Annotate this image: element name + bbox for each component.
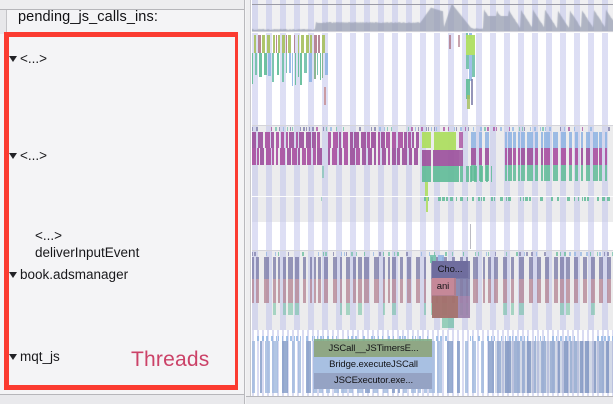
flame-segment[interactable] — [560, 252, 561, 256]
flame-segment[interactable] — [602, 197, 605, 201]
flame-segment[interactable] — [283, 257, 286, 279]
flame-segment[interactable] — [252, 279, 254, 303]
flame-segment[interactable] — [494, 197, 495, 201]
flame-segment[interactable] — [525, 197, 528, 201]
flame-segment[interactable] — [529, 257, 533, 279]
flame-segment[interactable] — [303, 279, 306, 303]
flame-segment[interactable] — [478, 197, 480, 201]
flame-segment[interactable] — [500, 197, 503, 201]
flame-segment[interactable] — [362, 148, 366, 165]
flame-segment[interactable] — [519, 279, 524, 303]
flame-segment[interactable] — [456, 127, 457, 131]
flame-segment[interactable] — [495, 252, 496, 256]
flame-segment[interactable] — [418, 127, 419, 131]
animation-block[interactable]: ani — [432, 278, 454, 295]
flame-segment[interactable] — [523, 197, 524, 201]
flame-segment[interactable] — [287, 148, 291, 165]
flame-segment[interactable] — [597, 252, 598, 256]
flame-segment[interactable] — [272, 53, 274, 82]
flame-segment[interactable] — [333, 257, 337, 279]
flame-segment[interactable] — [257, 148, 259, 165]
flame-segment[interactable] — [400, 257, 403, 279]
flame-segment[interactable] — [593, 148, 598, 165]
flame-segment[interactable] — [574, 257, 578, 279]
flame-segment[interactable] — [475, 252, 476, 256]
flame-segment[interactable] — [586, 148, 590, 165]
flame-segment[interactable] — [288, 279, 293, 303]
flame-segment[interactable] — [339, 132, 341, 148]
flame-segment[interactable] — [524, 127, 525, 131]
flame-segment[interactable] — [258, 132, 263, 148]
flame-segment[interactable] — [322, 53, 323, 78]
flame-segment[interactable] — [382, 148, 386, 165]
disclosure-triangle-icon[interactable] — [9, 272, 17, 278]
flame-segment[interactable] — [472, 197, 474, 201]
flame-segment[interactable] — [460, 166, 463, 182]
flame-segment[interactable] — [344, 252, 345, 256]
flame-segment[interactable] — [328, 132, 331, 148]
flame-segment[interactable] — [496, 127, 497, 131]
flame-segment[interactable] — [508, 132, 512, 148]
flame-segment[interactable] — [252, 341, 255, 393]
flame-segment[interactable] — [553, 148, 558, 165]
flame-segment[interactable] — [336, 127, 337, 131]
flame-segment[interactable] — [473, 279, 478, 303]
flame-segment[interactable] — [318, 257, 321, 279]
flame-segment[interactable] — [252, 132, 256, 148]
flame-segment[interactable] — [520, 197, 521, 201]
flame-segment[interactable] — [303, 257, 306, 279]
flame-segment[interactable] — [272, 148, 274, 165]
flame-segment[interactable] — [574, 252, 576, 256]
flame-segment[interactable] — [323, 127, 324, 131]
flame-segment[interactable] — [590, 252, 591, 256]
flame-segment[interactable] — [599, 279, 603, 303]
flame-segment[interactable] — [485, 148, 489, 165]
flame-segment[interactable] — [534, 127, 536, 131]
flame-segment[interactable] — [459, 132, 463, 148]
flame-segment[interactable] — [383, 252, 384, 256]
flame-segment[interactable] — [471, 148, 476, 165]
flame-segment[interactable] — [433, 166, 459, 182]
flame-segment[interactable] — [446, 197, 448, 201]
flame-segment[interactable] — [511, 257, 514, 279]
flame-segment[interactable] — [383, 257, 385, 279]
flame-segment[interactable] — [486, 252, 487, 256]
flame-segment[interactable] — [272, 341, 278, 393]
flame-segment[interactable] — [580, 252, 582, 256]
flame-segment[interactable] — [575, 165, 578, 181]
flame-segment[interactable] — [470, 166, 472, 182]
flame-segment[interactable] — [298, 148, 300, 165]
flame-segment[interactable] — [359, 127, 361, 131]
flame-segment[interactable] — [397, 252, 399, 256]
flame-segment[interactable] — [505, 132, 507, 148]
flame-segment[interactable] — [438, 197, 441, 201]
flame-segment[interactable] — [289, 53, 291, 73]
flame-segment[interactable] — [518, 165, 520, 181]
flame-segment[interactable] — [575, 148, 578, 165]
flame-segment[interactable] — [524, 252, 525, 256]
flame-segment[interactable] — [295, 279, 299, 303]
flame-segment[interactable] — [379, 252, 381, 256]
flame-segment[interactable] — [460, 127, 462, 131]
flame-segment[interactable] — [521, 132, 525, 148]
flame-segment[interactable] — [519, 303, 524, 315]
flame-segment[interactable] — [569, 165, 572, 181]
flame-segment[interactable] — [503, 279, 507, 303]
flame-segment[interactable] — [508, 148, 512, 165]
flame-segment[interactable] — [481, 341, 484, 393]
flame-segment[interactable] — [312, 127, 314, 131]
flame-segment[interactable] — [296, 132, 298, 148]
flame-segment[interactable] — [314, 257, 316, 279]
flame-segment[interactable] — [259, 53, 262, 77]
flame-segment[interactable] — [388, 279, 390, 303]
flame-segment[interactable] — [280, 148, 285, 165]
flame-segment[interactable] — [426, 197, 428, 212]
flame-segment[interactable] — [409, 148, 412, 165]
flame-segment[interactable] — [540, 127, 541, 131]
flame-segment[interactable] — [368, 148, 372, 165]
flame-segment[interactable] — [519, 252, 521, 256]
flame-segment[interactable] — [374, 257, 379, 279]
flame-segment[interactable] — [416, 279, 420, 303]
flame-segment[interactable] — [262, 336, 264, 341]
flame-segment[interactable] — [545, 257, 549, 279]
track-thread-1[interactable] — [252, 33, 613, 125]
flame-segment[interactable] — [473, 127, 474, 131]
flame-segment[interactable] — [535, 148, 538, 165]
flame-segment[interactable] — [282, 341, 288, 393]
flame-segment[interactable] — [428, 127, 429, 131]
flame-segment[interactable] — [306, 132, 311, 148]
flame-segment[interactable] — [379, 127, 381, 131]
flame-segment[interactable] — [458, 35, 460, 47]
flame-segment[interactable] — [491, 197, 493, 201]
track-thread-4[interactable] — [252, 222, 613, 250]
flame-segment[interactable] — [371, 127, 372, 131]
flame-segment[interactable] — [478, 252, 479, 256]
flame-segment[interactable] — [518, 132, 520, 148]
flame-segment[interactable] — [322, 166, 324, 178]
flame-segment[interactable] — [283, 303, 286, 315]
flame-segment[interactable] — [471, 132, 476, 148]
flame-segment[interactable] — [422, 132, 431, 148]
flame-segment[interactable] — [569, 148, 572, 165]
flame-segment[interactable] — [465, 127, 466, 131]
flame-segment[interactable] — [318, 279, 321, 303]
flame-segment[interactable] — [350, 148, 355, 165]
flame-segment[interactable] — [306, 35, 309, 53]
flame-segment[interactable] — [282, 35, 285, 53]
disclosure-triangle-icon[interactable] — [9, 56, 17, 62]
flame-segment[interactable] — [294, 35, 295, 53]
flame-segment[interactable] — [364, 279, 369, 303]
thread-tree[interactable]: <...><...><...>deliverInputEventbook.ads… — [9, 37, 235, 385]
flame-segment[interactable] — [544, 165, 550, 181]
flame-segment[interactable] — [488, 252, 489, 256]
flame-segment[interactable] — [421, 252, 422, 256]
flame-segment[interactable] — [434, 127, 435, 131]
flame-segment[interactable] — [340, 279, 342, 303]
flame-segment[interactable] — [273, 279, 276, 303]
flame-segment[interactable] — [574, 279, 578, 303]
flame-segment[interactable] — [381, 132, 385, 148]
flame-segment[interactable] — [560, 127, 561, 131]
flame-segment[interactable] — [264, 257, 269, 279]
flame-segment[interactable] — [277, 53, 279, 75]
flame-segment[interactable] — [306, 127, 307, 131]
flame-segment[interactable] — [374, 279, 379, 303]
flame-segment[interactable] — [511, 303, 514, 315]
flame-segment[interactable] — [286, 132, 288, 148]
flame-segment[interactable] — [516, 252, 518, 256]
flame-segment[interactable] — [459, 150, 463, 166]
flame-segment[interactable] — [431, 127, 432, 131]
flame-segment[interactable] — [484, 127, 486, 131]
flame-segment[interactable] — [271, 127, 272, 131]
flame-segment[interactable] — [513, 165, 516, 181]
flame-segment[interactable] — [292, 148, 297, 165]
flame-segment[interactable] — [266, 252, 267, 256]
flame-segment[interactable] — [265, 132, 270, 148]
flame-segment[interactable] — [317, 132, 320, 148]
flame-segment[interactable] — [553, 132, 558, 148]
flame-segment[interactable] — [288, 35, 291, 53]
flame-segment[interactable] — [505, 165, 507, 181]
flame-segment[interactable] — [339, 148, 342, 165]
flame-segment[interactable] — [508, 197, 511, 201]
flame-segment[interactable] — [407, 257, 411, 279]
flame-segment[interactable] — [279, 127, 280, 131]
flame-segment[interactable] — [599, 257, 603, 279]
flame-segment[interactable] — [549, 127, 551, 131]
flame-segment[interactable] — [493, 127, 495, 131]
flame-segment[interactable] — [512, 127, 514, 131]
flame-segment[interactable] — [367, 132, 370, 148]
flame-segment[interactable] — [428, 197, 429, 201]
flame-segment[interactable] — [271, 132, 274, 148]
flame-segment[interactable] — [442, 197, 445, 201]
flame-segment[interactable] — [273, 257, 276, 279]
flame-segment[interactable] — [252, 252, 253, 256]
tree-item[interactable]: mqt_js — [9, 348, 60, 365]
flame-segment[interactable] — [314, 53, 316, 79]
flame-segment[interactable] — [378, 132, 380, 148]
flame-segment[interactable] — [478, 336, 480, 341]
flame-segment[interactable] — [442, 318, 454, 328]
flame-segment[interactable] — [583, 279, 587, 303]
flame-segment[interactable] — [426, 127, 427, 131]
flame-segment[interactable] — [378, 148, 380, 165]
flame-segment[interactable] — [320, 53, 321, 80]
flame-segment[interactable] — [575, 132, 578, 148]
flame-segment[interactable] — [275, 252, 276, 256]
flame-segment[interactable] — [468, 127, 469, 131]
flame-segment[interactable] — [278, 336, 279, 341]
flame-segment[interactable] — [495, 341, 613, 393]
flame-segment[interactable] — [371, 132, 376, 148]
flame-segment[interactable] — [276, 148, 278, 165]
flame-segment[interactable] — [424, 303, 426, 315]
flame-segment[interactable] — [346, 257, 350, 279]
horizontal-scrollbar-left[interactable] — [0, 394, 245, 404]
flame-segment[interactable] — [404, 132, 407, 148]
flame-segment[interactable] — [383, 279, 385, 303]
flame-segment[interactable] — [545, 279, 549, 303]
flame-segment[interactable] — [607, 257, 611, 279]
flame-segment[interactable] — [433, 150, 459, 166]
flame-segment[interactable] — [254, 35, 256, 53]
flame-chart-body[interactable]: Cho...aniJSCall__JSTimersE...Bridge.exec… — [252, 0, 613, 404]
flame-segment[interactable] — [488, 257, 491, 279]
flame-segment[interactable] — [448, 127, 449, 131]
flame-segment[interactable] — [298, 341, 301, 393]
flame-segment[interactable] — [519, 127, 520, 131]
flame-segment[interactable] — [314, 35, 317, 53]
flame-segment[interactable] — [605, 165, 607, 181]
flame-segment[interactable] — [256, 257, 259, 279]
flame-segment[interactable] — [346, 252, 347, 256]
flame-segment[interactable] — [449, 35, 451, 49]
flame-segment[interactable] — [340, 303, 342, 315]
flame-segment[interactable] — [281, 132, 284, 148]
flame-segment[interactable] — [458, 296, 470, 318]
flame-segment[interactable] — [324, 87, 326, 105]
flame-segment[interactable] — [593, 165, 598, 181]
flame-segment[interactable] — [406, 252, 408, 256]
flame-segment[interactable] — [454, 127, 455, 131]
jscexecutor-block[interactable]: JSCExecutor.exe... — [318, 373, 429, 389]
flame-segment[interactable] — [487, 127, 489, 131]
flame-segment[interactable] — [302, 252, 304, 256]
flame-segment[interactable] — [591, 303, 595, 315]
flame-segment[interactable] — [353, 257, 356, 279]
flame-segment[interactable] — [295, 53, 296, 85]
flame-segment[interactable] — [574, 197, 575, 201]
flame-segment[interactable] — [324, 257, 328, 279]
flame-segment[interactable] — [466, 35, 475, 55]
flame-segment[interactable] — [599, 252, 601, 256]
horizontal-scrollbar-chart[interactable] — [246, 396, 613, 404]
flame-segment[interactable] — [400, 279, 403, 303]
flame-segment[interactable] — [479, 132, 482, 148]
flame-segment[interactable] — [282, 53, 284, 82]
flame-segment[interactable] — [529, 279, 533, 303]
flame-segment[interactable] — [586, 165, 590, 181]
flame-segment[interactable] — [479, 148, 482, 165]
flame-segment[interactable] — [392, 132, 396, 148]
flame-segment[interactable] — [450, 197, 453, 201]
flame-segment[interactable] — [530, 127, 531, 131]
flame-segment[interactable] — [266, 148, 271, 165]
flame-segment[interactable] — [264, 53, 267, 75]
flame-segment[interactable] — [463, 252, 464, 256]
flame-segment[interactable] — [452, 252, 453, 256]
flame-segment[interactable] — [494, 257, 498, 279]
flame-segment[interactable] — [306, 341, 311, 393]
flame-segment[interactable] — [333, 132, 338, 148]
flame-segment[interactable] — [310, 35, 312, 53]
flame-segment[interactable] — [599, 148, 602, 165]
flame-segment[interactable] — [262, 35, 265, 53]
flame-segment[interactable] — [307, 148, 311, 165]
jscall-timers-block[interactable]: JSCall__JSTimersE... — [318, 341, 429, 357]
flame-segment[interactable] — [411, 127, 413, 131]
flame-segment[interactable] — [333, 279, 337, 303]
flame-segment[interactable] — [467, 197, 468, 201]
flame-segment[interactable] — [273, 35, 275, 53]
flame-segment[interactable] — [593, 132, 598, 148]
flame-segment[interactable] — [325, 53, 328, 75]
flame-segment[interactable] — [324, 279, 328, 303]
flame-segment[interactable] — [424, 257, 426, 279]
flame-segment[interactable] — [554, 279, 558, 303]
flame-segment[interactable] — [260, 341, 262, 393]
tree-item[interactable]: deliverInputEvent — [23, 244, 139, 261]
flame-segment[interactable] — [566, 279, 570, 303]
flame-segment[interactable] — [384, 127, 385, 131]
flame-segment[interactable] — [503, 303, 507, 315]
flame-segment[interactable] — [506, 252, 507, 256]
flame-segment[interactable] — [300, 53, 302, 85]
flame-segment[interactable] — [412, 132, 414, 148]
track-thread-6[interactable] — [252, 330, 613, 396]
flame-segment[interactable] — [527, 132, 533, 148]
flame-segment[interactable] — [252, 257, 254, 279]
flame-segment[interactable] — [333, 252, 334, 256]
flame-segment[interactable] — [584, 197, 586, 201]
flame-segment[interactable] — [275, 127, 277, 131]
flame-segment[interactable] — [422, 166, 431, 182]
flame-segment[interactable] — [287, 127, 288, 131]
flame-segment[interactable] — [586, 132, 590, 148]
flame-segment[interactable] — [586, 252, 588, 256]
flame-segment[interactable] — [425, 182, 428, 196]
flame-segment[interactable] — [472, 55, 475, 77]
flame-segment[interactable] — [471, 79, 473, 105]
flame-segment[interactable] — [388, 252, 390, 256]
flame-segment[interactable] — [432, 296, 458, 318]
flame-segment[interactable] — [278, 279, 280, 303]
flame-segment[interactable] — [309, 53, 312, 82]
flame-segment[interactable] — [358, 279, 362, 303]
flame-segment[interactable] — [301, 35, 304, 53]
flame-segment[interactable] — [283, 279, 286, 303]
flame-segment[interactable] — [252, 148, 256, 165]
flame-segment[interactable] — [513, 148, 516, 165]
flame-segment[interactable] — [276, 132, 279, 148]
flame-segment[interactable] — [566, 303, 570, 315]
flame-segment[interactable] — [456, 278, 470, 296]
disclosure-triangle-icon[interactable] — [9, 354, 17, 360]
flame-segment[interactable] — [314, 279, 316, 303]
flame-segment[interactable] — [445, 252, 447, 256]
flame-segment[interactable] — [560, 257, 564, 279]
flame-segment[interactable] — [350, 132, 353, 148]
flame-segment[interactable] — [537, 257, 541, 279]
flame-segment[interactable] — [268, 53, 271, 76]
flame-segment[interactable] — [318, 252, 319, 256]
flame-segment[interactable] — [434, 132, 456, 150]
flame-segment[interactable] — [582, 127, 583, 131]
flame-segment[interactable] — [518, 148, 520, 165]
flame-segment[interactable] — [313, 148, 316, 165]
flame-segment[interactable] — [264, 279, 269, 303]
flame-segment[interactable] — [374, 127, 376, 131]
flame-segment[interactable] — [599, 132, 602, 148]
